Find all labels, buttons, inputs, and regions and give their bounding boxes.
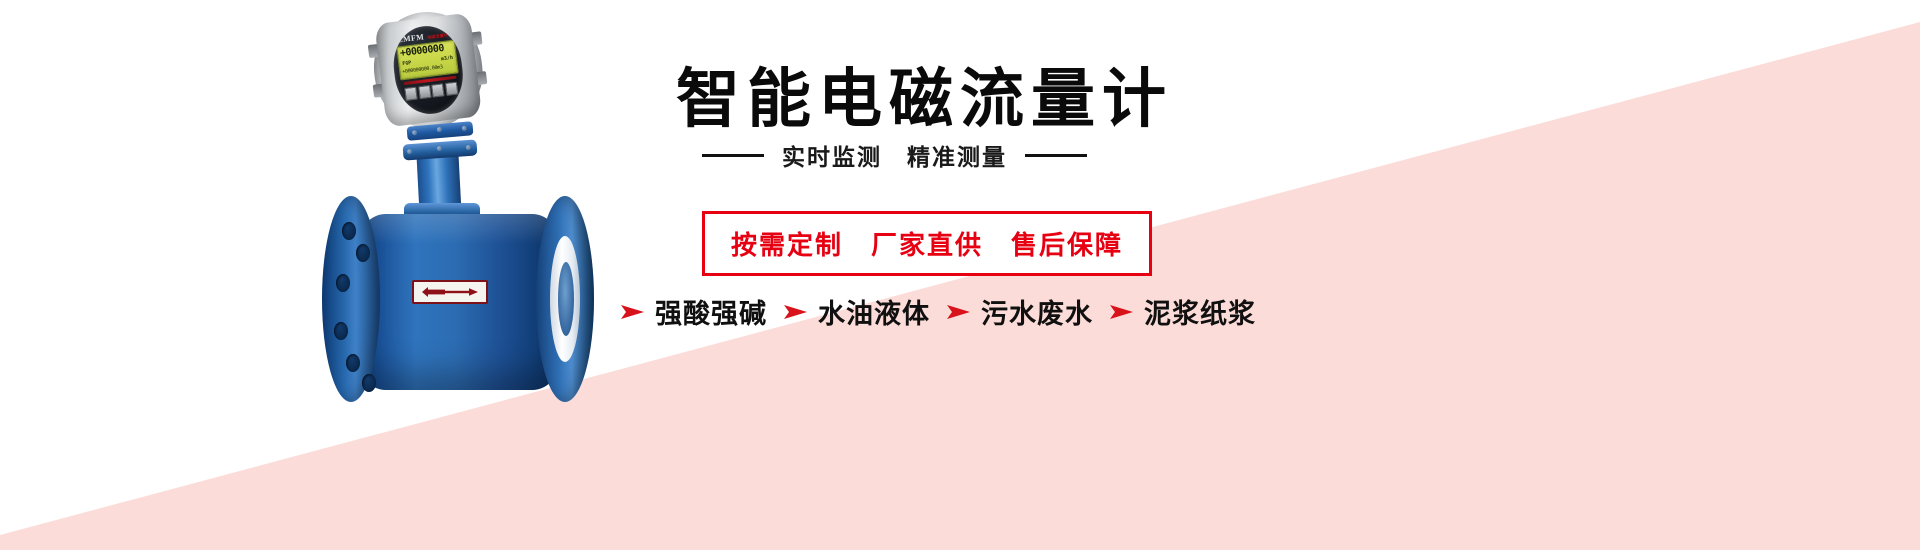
feature-list: 强酸强碱 水油液体 污水废水 泥浆纸浆 (620, 292, 1256, 331)
flange-bolt-hole (346, 354, 360, 372)
feature-item: 泥浆纸浆 (1109, 292, 1256, 331)
product-banner: EMFM 电磁流量计 +0000000 FGP m3/h +000000000.… (0, 0, 1920, 550)
neck-lower-flange (403, 139, 478, 160)
triangle-right-icon (946, 302, 972, 322)
feature-item: 污水废水 (946, 292, 1093, 331)
lcd-screen: +0000000 FGP m3/h +000000000.00m3 (396, 40, 459, 81)
flange-bolt-hole (334, 322, 348, 340)
keypad-button[interactable] (445, 82, 458, 96)
keypad-button[interactable] (431, 83, 444, 97)
flow-direction-arrow-icon (420, 286, 480, 298)
keypad-button[interactable] (418, 85, 431, 99)
lcd-mid-right: m3/h (441, 55, 454, 62)
flange-bolt-hole (362, 374, 376, 392)
flow-meter-illustration: EMFM 电磁流量计 +0000000 FGP m3/h +000000000.… (300, 0, 660, 430)
rule-right (1025, 154, 1087, 157)
service-badge-text: 按需定制 厂家直供 售后保障 (731, 230, 1123, 260)
flange-bolt (466, 145, 471, 150)
feature-label: 泥浆纸浆 (1144, 292, 1256, 331)
triangle-right-icon (783, 302, 809, 322)
banner-subtitle-row: 实时监测 精准测量 (702, 138, 1087, 172)
brand-sub-label: 电磁流量计 (427, 32, 449, 41)
flange-bolt-hole (336, 274, 350, 292)
feature-label: 污水废水 (981, 292, 1093, 331)
meter-body-highlight (364, 214, 554, 244)
banner-title: 智能电磁流量计 (676, 48, 1173, 140)
triangle-right-icon (1109, 302, 1135, 322)
flange-bolt (407, 149, 412, 154)
service-badge: 按需定制 厂家直供 售后保障 (702, 211, 1152, 276)
flange-bolt-hole (342, 222, 356, 240)
pipe-flange-left (322, 196, 380, 402)
flange-bolt-hole (356, 244, 370, 262)
keypad-button[interactable] (404, 87, 417, 101)
bore-opening-right (558, 262, 574, 336)
keypad (404, 82, 458, 101)
flange-bolt (462, 126, 467, 131)
feature-label: 水油液体 (818, 292, 930, 331)
feature-item: 水油液体 (783, 292, 930, 331)
flange-bolt (412, 130, 417, 135)
banner-copy: 智能电磁流量计 实时监测 精准测量 按需定制 厂家直供 售后保障 强酸强碱 水油… (620, 0, 1820, 550)
flange-bolt (437, 146, 442, 151)
rule-left (702, 154, 764, 157)
transmitter-head: EMFM 电磁流量计 +0000000 FGP m3/h +000000000.… (365, 0, 492, 138)
flow-direction-label (412, 280, 488, 304)
banner-subtitle: 实时监测 精准测量 (782, 138, 1007, 172)
triangle-right-icon (620, 302, 646, 322)
flange-bolt (437, 127, 442, 132)
lcd-mid-left: FGP (402, 60, 412, 67)
feature-label: 强酸强碱 (655, 292, 767, 331)
feature-item: 强酸强碱 (620, 292, 767, 331)
